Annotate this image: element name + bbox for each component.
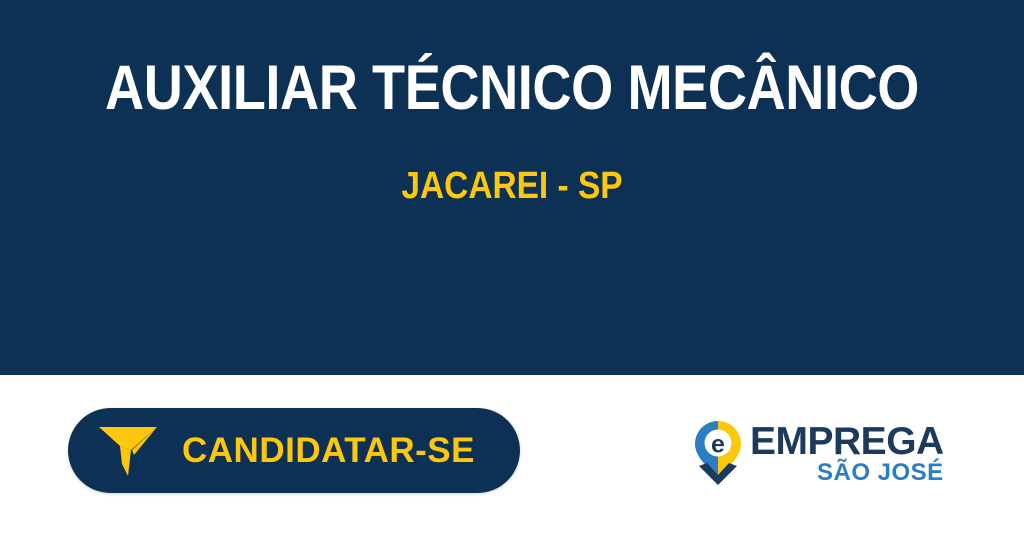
- map-pin-e-icon: e: [694, 420, 742, 486]
- apply-button[interactable]: CANDIDATAR-SE: [68, 408, 520, 493]
- brand-logo: e EMPREGA SÃO JOSÉ: [694, 420, 939, 492]
- brand-name: EMPREGA: [750, 423, 944, 460]
- apply-button-label: CANDIDATAR-SE: [182, 431, 475, 471]
- paper-plane-send-icon: [98, 423, 160, 479]
- job-title: AUXILIAR TÉCNICO MECÂNICO: [72, 56, 953, 120]
- hero-banner: AUXILIAR TÉCNICO MECÂNICO JACAREI - SP: [0, 0, 1024, 375]
- brand-wordmark: EMPREGA SÃO JOSÉ: [750, 420, 944, 485]
- job-location: JACAREI - SP: [61, 166, 962, 206]
- brand-city: SÃO JOSÉ: [750, 460, 944, 485]
- job-posting-card: AUXILIAR TÉCNICO MECÂNICO JACAREI - SP C…: [0, 0, 1024, 538]
- svg-text:e: e: [711, 431, 725, 459]
